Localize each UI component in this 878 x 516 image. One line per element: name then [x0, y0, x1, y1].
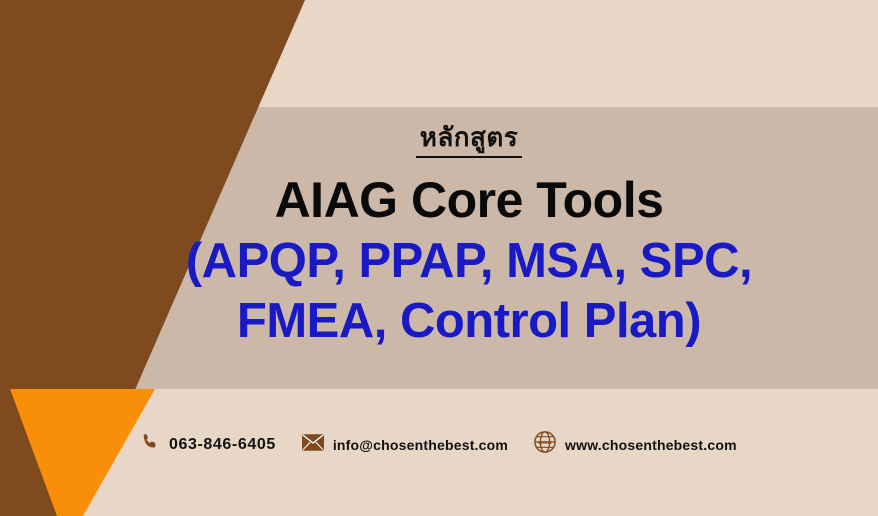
course-subtitle-line-2: FMEA, Control Plan)	[186, 292, 752, 352]
contact-row: 063-846-6405 info@chosenthebest.com	[140, 431, 737, 458]
phone-number: 063-846-6405	[169, 436, 276, 454]
envelope-icon	[302, 434, 324, 456]
kicker-label: หลักสูตร	[416, 121, 523, 158]
contact-email[interactable]: info@chosenthebest.com	[302, 434, 508, 456]
course-banner: หลักสูตร AIAG Core Tools (APQP, PPAP, MS…	[0, 0, 878, 516]
banner-footer: 063-846-6405 info@chosenthebest.com	[0, 389, 878, 516]
email-address: info@chosenthebest.com	[333, 437, 508, 453]
contact-website[interactable]: www www.chosenthebest.com	[534, 431, 737, 458]
phone-icon	[140, 432, 160, 457]
globe-www-icon: www	[534, 431, 556, 458]
website-url: www.chosenthebest.com	[565, 437, 737, 453]
banner-content: หลักสูตร AIAG Core Tools (APQP, PPAP, MS…	[0, 107, 878, 389]
page-title: AIAG Core Tools	[275, 174, 664, 227]
contact-phone[interactable]: 063-846-6405	[140, 432, 276, 457]
course-subtitle-line-1: (APQP, PPAP, MSA, SPC,	[186, 232, 752, 292]
svg-text:www: www	[537, 440, 552, 446]
course-subtitle: (APQP, PPAP, MSA, SPC, FMEA, Control Pla…	[186, 232, 752, 352]
